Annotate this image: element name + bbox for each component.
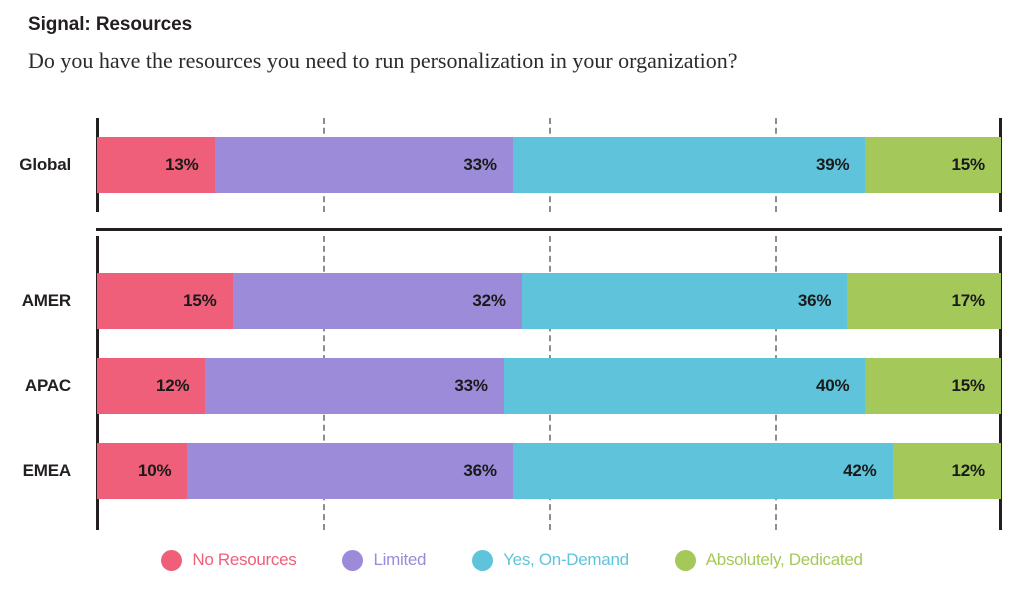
bar-segment[interactable]: 33% (205, 358, 503, 414)
bar-segment[interactable]: 36% (187, 443, 512, 499)
bar-segment-value: 40% (816, 376, 865, 396)
bar-segment-value: 17% (952, 291, 1001, 311)
bar-segment[interactable]: 40% (504, 358, 866, 414)
bar-segment-value: 13% (165, 155, 214, 175)
bar-segment[interactable]: 15% (865, 137, 1001, 193)
legend-item[interactable]: Yes, On-Demand (472, 550, 629, 571)
legend-label: No Resources (192, 550, 296, 570)
bar-segment-value: 10% (138, 461, 187, 481)
bar-segment-value: 15% (183, 291, 232, 311)
bar-segment-value: 33% (463, 155, 512, 175)
row-label-amer: AMER (0, 273, 83, 329)
chart-row: AMER15%32%36%17% (0, 273, 1024, 329)
chart-row: Global13%33%39%15% (0, 137, 1024, 193)
stacked-bar: 10%36%42%12% (97, 443, 1001, 499)
bar-segment[interactable]: 15% (865, 358, 1001, 414)
bar-segment-value: 15% (952, 376, 1001, 396)
chart-row: APAC12%33%40%15% (0, 358, 1024, 414)
row-label-global: Global (0, 137, 83, 193)
legend-dot-icon (342, 550, 363, 571)
stacked-bar-chart: Global13%33%39%15%AMER15%32%36%17%APAC12… (0, 118, 1024, 530)
bar-segment-value: 12% (952, 461, 1001, 481)
bar-segment[interactable]: 32% (233, 273, 522, 329)
bar-segment-value: 36% (798, 291, 847, 311)
row-label-emea: EMEA (0, 443, 83, 499)
legend-item[interactable]: No Resources (161, 550, 296, 571)
legend-label: Absolutely, Dedicated (706, 550, 863, 570)
row-label-apac: APAC (0, 358, 83, 414)
bar-segment-value: 15% (952, 155, 1001, 175)
legend-label: Limited (373, 550, 426, 570)
bar-segment[interactable]: 17% (847, 273, 1001, 329)
chart-legend: No ResourcesLimitedYes, On-DemandAbsolut… (0, 540, 1024, 580)
bar-segment-value: 32% (472, 291, 521, 311)
bar-segment[interactable]: 39% (513, 137, 866, 193)
bar-segment-value: 39% (816, 155, 865, 175)
bar-segment[interactable]: 15% (97, 273, 233, 329)
bar-segment[interactable]: 42% (513, 443, 893, 499)
bar-segment[interactable]: 13% (97, 137, 215, 193)
stacked-bar: 12%33%40%15% (97, 358, 1001, 414)
group-separator (96, 228, 1002, 231)
bar-segment-value: 42% (843, 461, 892, 481)
chart-header: Signal: Resources Do you have the resour… (28, 14, 998, 74)
legend-dot-icon (161, 550, 182, 571)
stacked-bar: 13%33%39%15% (97, 137, 1001, 193)
page-title: Signal: Resources (28, 14, 998, 36)
legend-item[interactable]: Absolutely, Dedicated (675, 550, 863, 571)
chart-subtitle: Do you have the resources you need to ru… (28, 36, 998, 74)
bar-segment-value: 12% (156, 376, 205, 396)
legend-dot-icon (675, 550, 696, 571)
bar-segment[interactable]: 36% (522, 273, 847, 329)
legend-item[interactable]: Limited (342, 550, 426, 571)
bar-segment[interactable]: 10% (97, 443, 187, 499)
legend-dot-icon (472, 550, 493, 571)
bar-segment[interactable]: 12% (97, 358, 205, 414)
chart-row: EMEA10%36%42%12% (0, 443, 1024, 499)
bar-segment-value: 33% (454, 376, 503, 396)
bar-segment[interactable]: 33% (215, 137, 513, 193)
bar-segment[interactable]: 12% (893, 443, 1001, 499)
legend-label: Yes, On-Demand (503, 550, 629, 570)
stacked-bar: 15%32%36%17% (97, 273, 1001, 329)
bar-segment-value: 36% (463, 461, 512, 481)
